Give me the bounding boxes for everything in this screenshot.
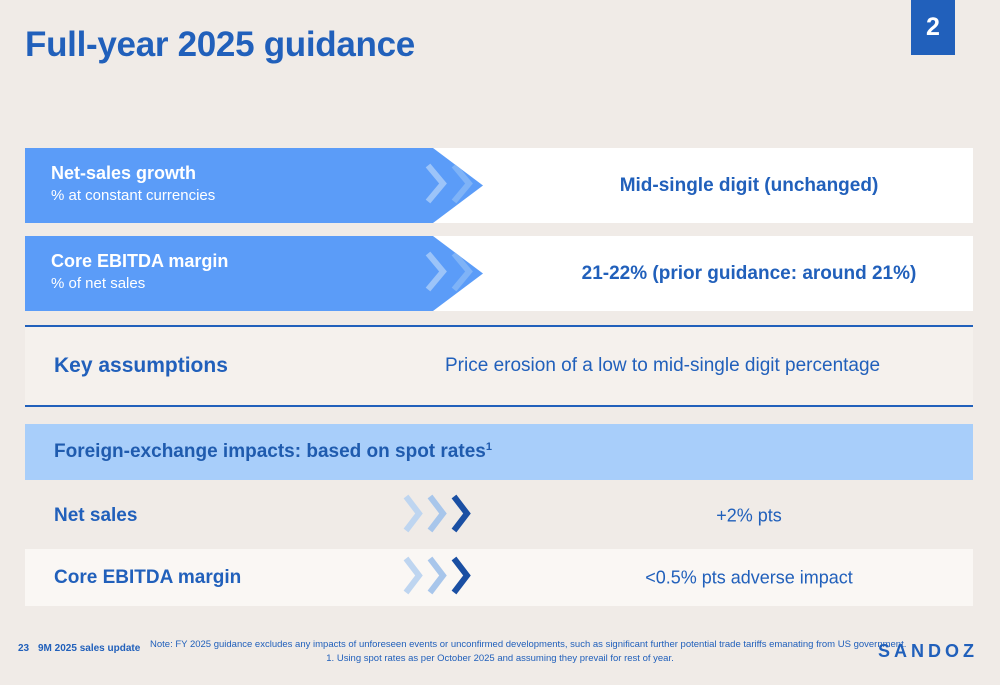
guidance-row-core-ebitda-margin: Core EBITDA margin % of net sales 21-22%… bbox=[25, 236, 973, 311]
fx-impacts-header-label: Foreign-exchange impacts: based on spot … bbox=[54, 441, 492, 463]
chevron-group bbox=[403, 555, 475, 600]
chevron-right-icon-dark bbox=[451, 555, 475, 600]
sandoz-logo: SANDOZ bbox=[878, 641, 978, 662]
chevron-right-icon-medium bbox=[451, 162, 477, 209]
chevron-right-icon-light bbox=[425, 250, 451, 297]
fx-row-core-ebitda-margin: Core EBITDA margin <0.5% pts adverse imp… bbox=[25, 549, 973, 606]
guidance-sublabel: % of net sales bbox=[51, 273, 228, 295]
guidance-sublabel: % at constant currencies bbox=[51, 185, 215, 207]
guidance-value: 21-22% (prior guidance: around 21%) bbox=[525, 236, 973, 311]
footer-page-number: 23 bbox=[18, 643, 29, 654]
fx-row-label: Net sales bbox=[54, 505, 137, 527]
slide-number-badge: 2 bbox=[911, 0, 955, 55]
chevron-right-icon-medium bbox=[427, 555, 451, 600]
fx-row-label: Core EBITDA margin bbox=[54, 567, 241, 589]
guidance-label: Core EBITDA margin bbox=[51, 249, 228, 273]
fx-row-net-sales: Net sales +2% pts bbox=[25, 487, 973, 544]
fx-row-value: +2% pts bbox=[525, 505, 973, 526]
chevron-group bbox=[425, 162, 503, 209]
chevron-right-icon-light bbox=[425, 162, 451, 209]
footer-notes: Note: FY 2025 guidance excludes any impa… bbox=[150, 638, 850, 666]
arrow-banner: Net-sales growth % at constant currencie… bbox=[25, 148, 483, 223]
footer-note-line-2: 1. Using spot rates as per October 2025 … bbox=[150, 652, 850, 666]
key-assumptions-label: Key assumptions bbox=[54, 354, 228, 378]
arrow-banner: Core EBITDA margin % of net sales bbox=[25, 236, 483, 311]
chevron-group bbox=[403, 493, 475, 538]
chevron-right-icon-dark bbox=[477, 250, 503, 297]
chevron-right-icon-light bbox=[403, 555, 427, 600]
guidance-value: Mid-single digit (unchanged) bbox=[525, 148, 973, 223]
fx-header-main-text: Foreign-exchange impacts: based on spot … bbox=[54, 441, 486, 462]
fx-row-value: <0.5% pts adverse impact bbox=[525, 567, 973, 588]
chevron-right-icon-dark bbox=[451, 493, 475, 538]
arrow-label-group: Core EBITDA margin % of net sales bbox=[51, 249, 228, 295]
page-title: Full-year 2025 guidance bbox=[25, 25, 415, 65]
fx-impacts-header: Foreign-exchange impacts: based on spot … bbox=[25, 424, 973, 480]
footer-note-line-1: Note: FY 2025 guidance excludes any impa… bbox=[150, 638, 850, 652]
chevron-right-icon-medium bbox=[427, 493, 451, 538]
chevron-right-icon-light bbox=[403, 493, 427, 538]
key-assumptions-section: Key assumptions Price erosion of a low t… bbox=[25, 325, 973, 407]
guidance-row-net-sales-growth: Net-sales growth % at constant currencie… bbox=[25, 148, 973, 223]
fx-header-footnote-marker: 1 bbox=[486, 441, 492, 453]
key-assumptions-text: Price erosion of a low to mid-single dig… bbox=[445, 355, 880, 377]
chevron-group bbox=[425, 250, 503, 297]
footer-deck-name: 9M 2025 sales update bbox=[38, 643, 140, 654]
chevron-right-icon-medium bbox=[451, 250, 477, 297]
arrow-label-group: Net-sales growth % at constant currencie… bbox=[51, 161, 215, 207]
guidance-label: Net-sales growth bbox=[51, 161, 215, 185]
chevron-right-icon-dark bbox=[477, 162, 503, 209]
